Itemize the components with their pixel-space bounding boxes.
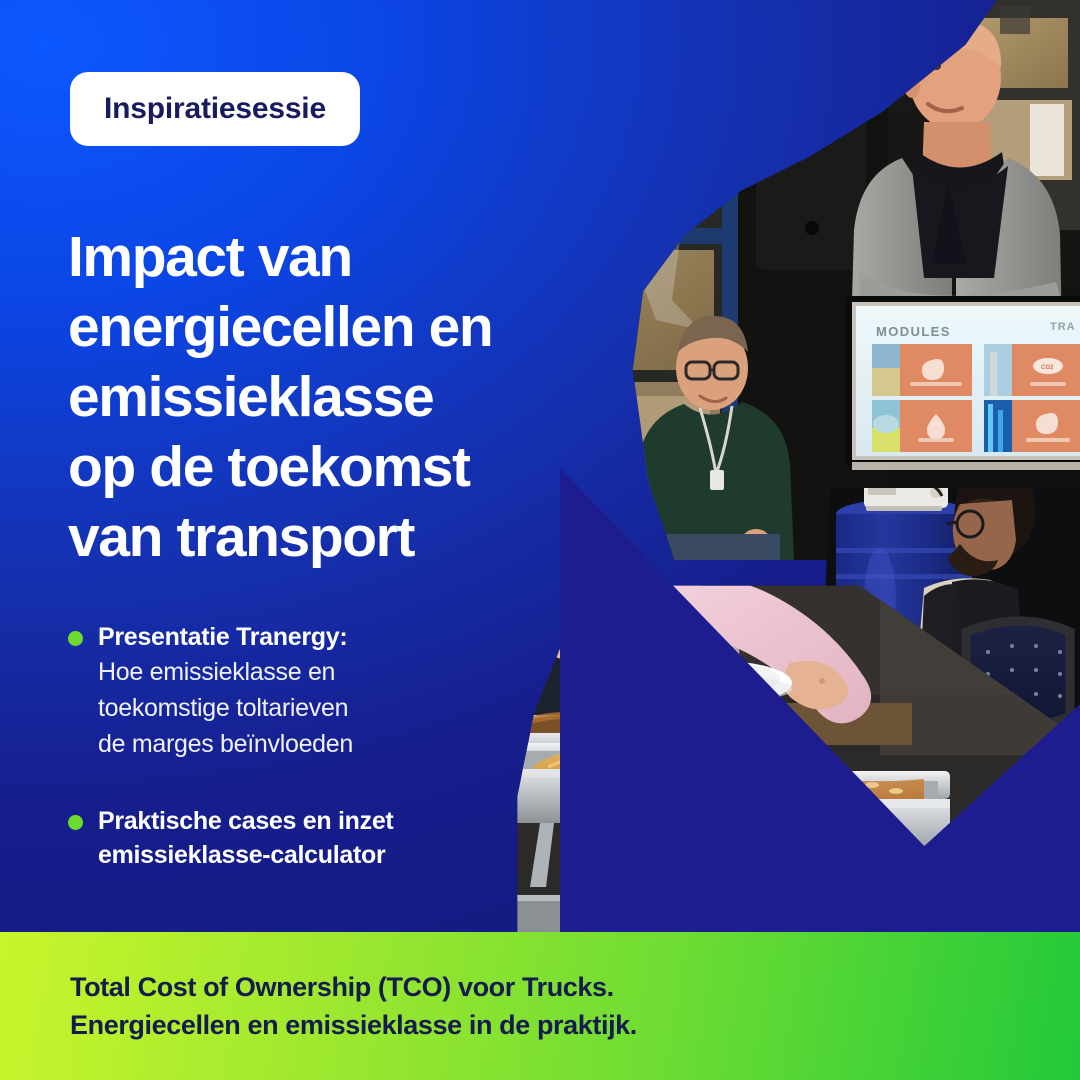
list-item: Praktische cases en inzet emissieklasse-…	[68, 804, 518, 872]
list-item: Presentatie Tranergy: Hoe emissieklasse …	[68, 620, 518, 762]
bullet-1-body: Hoe emissieklasse en toekomstige toltari…	[98, 654, 518, 762]
bullet-2-line-1: Praktische cases en inzet	[98, 804, 518, 838]
slide-brand-text: TRA	[1050, 321, 1076, 333]
bullet-dot-icon	[68, 631, 83, 646]
page-title: Impact van energiecellen en emissieklass…	[68, 222, 588, 572]
badge-inspiratiesessie: Inspiratiesessie	[70, 72, 360, 146]
title-line-3: emissieklasse	[68, 362, 588, 432]
bullet-2-line-2: emissieklasse-calculator	[98, 838, 518, 872]
bullet-1-line-2: toekomstige toltarieven	[98, 690, 518, 726]
title-line-4: op de toekomst	[68, 432, 588, 502]
title-line-1: Impact van	[68, 222, 588, 292]
presentation-photo: MODULES TRA CO2	[560, 0, 1080, 560]
bullet-dot-icon	[68, 815, 83, 830]
bullet-list: Presentatie Tranergy: Hoe emissieklasse …	[68, 620, 518, 902]
bullet-1-title: Presentatie Tranergy:	[98, 620, 518, 654]
svg-text:CO2: CO2	[1041, 365, 1054, 371]
badge-label: Inspiratiesessie	[104, 92, 326, 126]
poster-canvas: MODULES TRA CO2	[0, 0, 1080, 1080]
slide-heading-text: MODULES	[876, 324, 951, 339]
bullet-2-title: Praktische cases en inzet emissieklasse-…	[98, 804, 518, 872]
footer-line-2: Energiecellen en emissieklasse in de pra…	[70, 1006, 1080, 1044]
bullet-1-line-3: de marges beïnvloeden	[98, 726, 518, 762]
title-line-2: energiecellen en	[68, 292, 588, 362]
bullet-1-line-1: Hoe emissieklasse en	[98, 654, 518, 690]
footer-band: Total Cost of Ownership (TCO) voor Truck…	[0, 932, 1080, 1080]
footer-line-1: Total Cost of Ownership (TCO) voor Truck…	[70, 968, 1080, 1006]
title-line-5: van transport	[68, 502, 588, 572]
